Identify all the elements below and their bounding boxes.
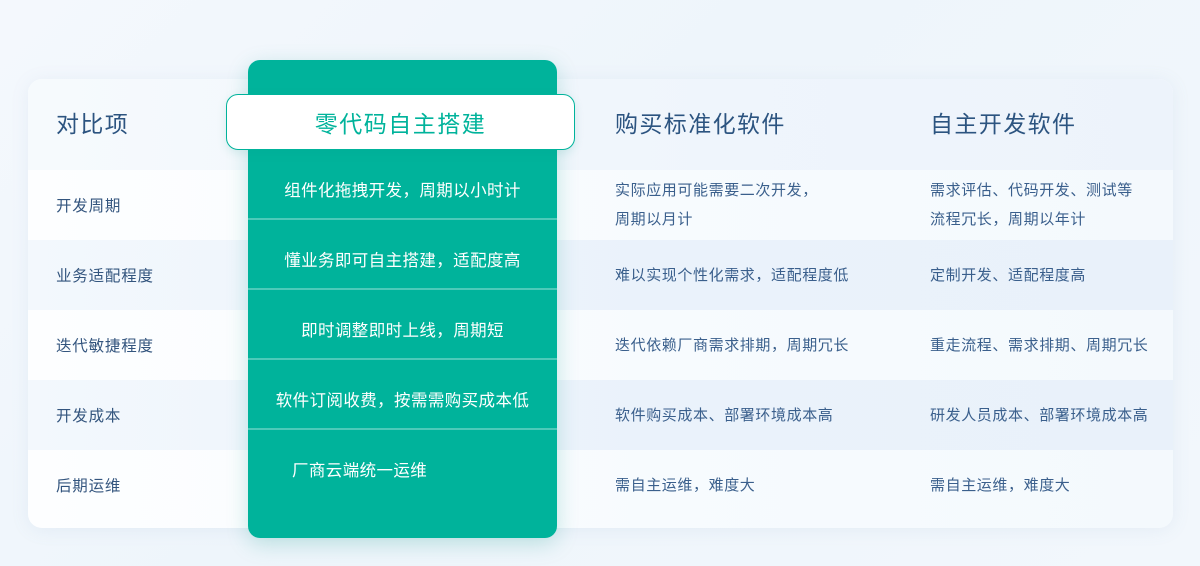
highlight-cell-row-2[interactable]: 懂业务即可自主搭建，适配度高 xyxy=(248,241,557,277)
cell-text-line: 流程冗长，周期以年计 xyxy=(930,205,1200,234)
highlight-column-header-label: 零代码自主搭建 xyxy=(315,105,487,139)
column-header-criteria: 对比项 xyxy=(56,100,236,144)
highlight-cell-row-5[interactable]: 厂商云端统一运维 xyxy=(248,451,557,487)
highlight-divider-4 xyxy=(248,428,557,430)
cell-standard-row-5: 需自主运维，难度大 xyxy=(615,468,925,502)
cell-text-line: 需求评估、代码开发、测试等 xyxy=(930,176,1200,205)
comparison-table-card xyxy=(28,79,1173,528)
cell-text-line: 需自主运维，难度大 xyxy=(930,471,1200,500)
highlight-divider-3 xyxy=(248,358,557,360)
cell-text-line: 难以实现个性化需求，适配程度低 xyxy=(615,261,925,290)
cell-custom-row-3: 重走流程、需求排期、周期冗长 xyxy=(930,328,1200,362)
cell-text-line: 迭代依赖厂商需求排期，周期冗长 xyxy=(615,331,925,360)
cell-text-line: 研发人员成本、部署环境成本高 xyxy=(930,401,1200,430)
column-header-custom-development: 自主开发软件 xyxy=(930,100,1200,144)
cell-text-line: 实际应用可能需要二次开发， xyxy=(615,176,925,205)
cell-custom-row-2: 定制开发、适配程度高 xyxy=(930,258,1200,292)
cell-standard-row-2: 难以实现个性化需求，适配程度低 xyxy=(615,258,925,292)
row-label-iteration-agility: 迭代敏捷程度 xyxy=(56,326,246,364)
row-label-business-fit: 业务适配程度 xyxy=(56,256,246,294)
highlight-cell-row-1[interactable]: 组件化拖拽开发，周期以小时计 xyxy=(248,171,557,207)
cell-standard-row-3: 迭代依赖厂商需求排期，周期冗长 xyxy=(615,328,925,362)
cell-custom-row-5: 需自主运维，难度大 xyxy=(930,468,1200,502)
column-header-standard-software: 购买标准化软件 xyxy=(615,100,935,144)
cell-custom-row-4: 研发人员成本、部署环境成本高 xyxy=(930,398,1200,432)
highlight-divider-1 xyxy=(248,218,557,220)
highlight-column-header-pill[interactable]: 零代码自主搭建 xyxy=(226,94,575,150)
row-label-development-cost: 开发成本 xyxy=(56,396,246,434)
cell-standard-row-4: 软件购买成本、部署环境成本高 xyxy=(615,398,925,432)
row-label-maintenance: 后期运维 xyxy=(56,466,246,504)
highlight-cell-row-3[interactable]: 即时调整即时上线，周期短 xyxy=(248,311,557,347)
row-label-development-cycle: 开发周期 xyxy=(56,186,246,224)
cell-text-line: 定制开发、适配程度高 xyxy=(930,261,1200,290)
cell-text-line: 周期以月计 xyxy=(615,205,925,234)
cell-text-line: 需自主运维，难度大 xyxy=(615,471,925,500)
highlight-cell-row-4[interactable]: 软件订阅收费，按需需购买成本低 xyxy=(248,381,557,417)
cell-text-line: 软件购买成本、部署环境成本高 xyxy=(615,401,925,430)
highlight-divider-2 xyxy=(248,288,557,290)
cell-standard-row-1: 实际应用可能需要二次开发， 周期以月计 xyxy=(615,180,925,230)
cell-custom-row-1: 需求评估、代码开发、测试等 流程冗长，周期以年计 xyxy=(930,180,1200,230)
cell-text-line: 重走流程、需求排期、周期冗长 xyxy=(930,331,1200,360)
